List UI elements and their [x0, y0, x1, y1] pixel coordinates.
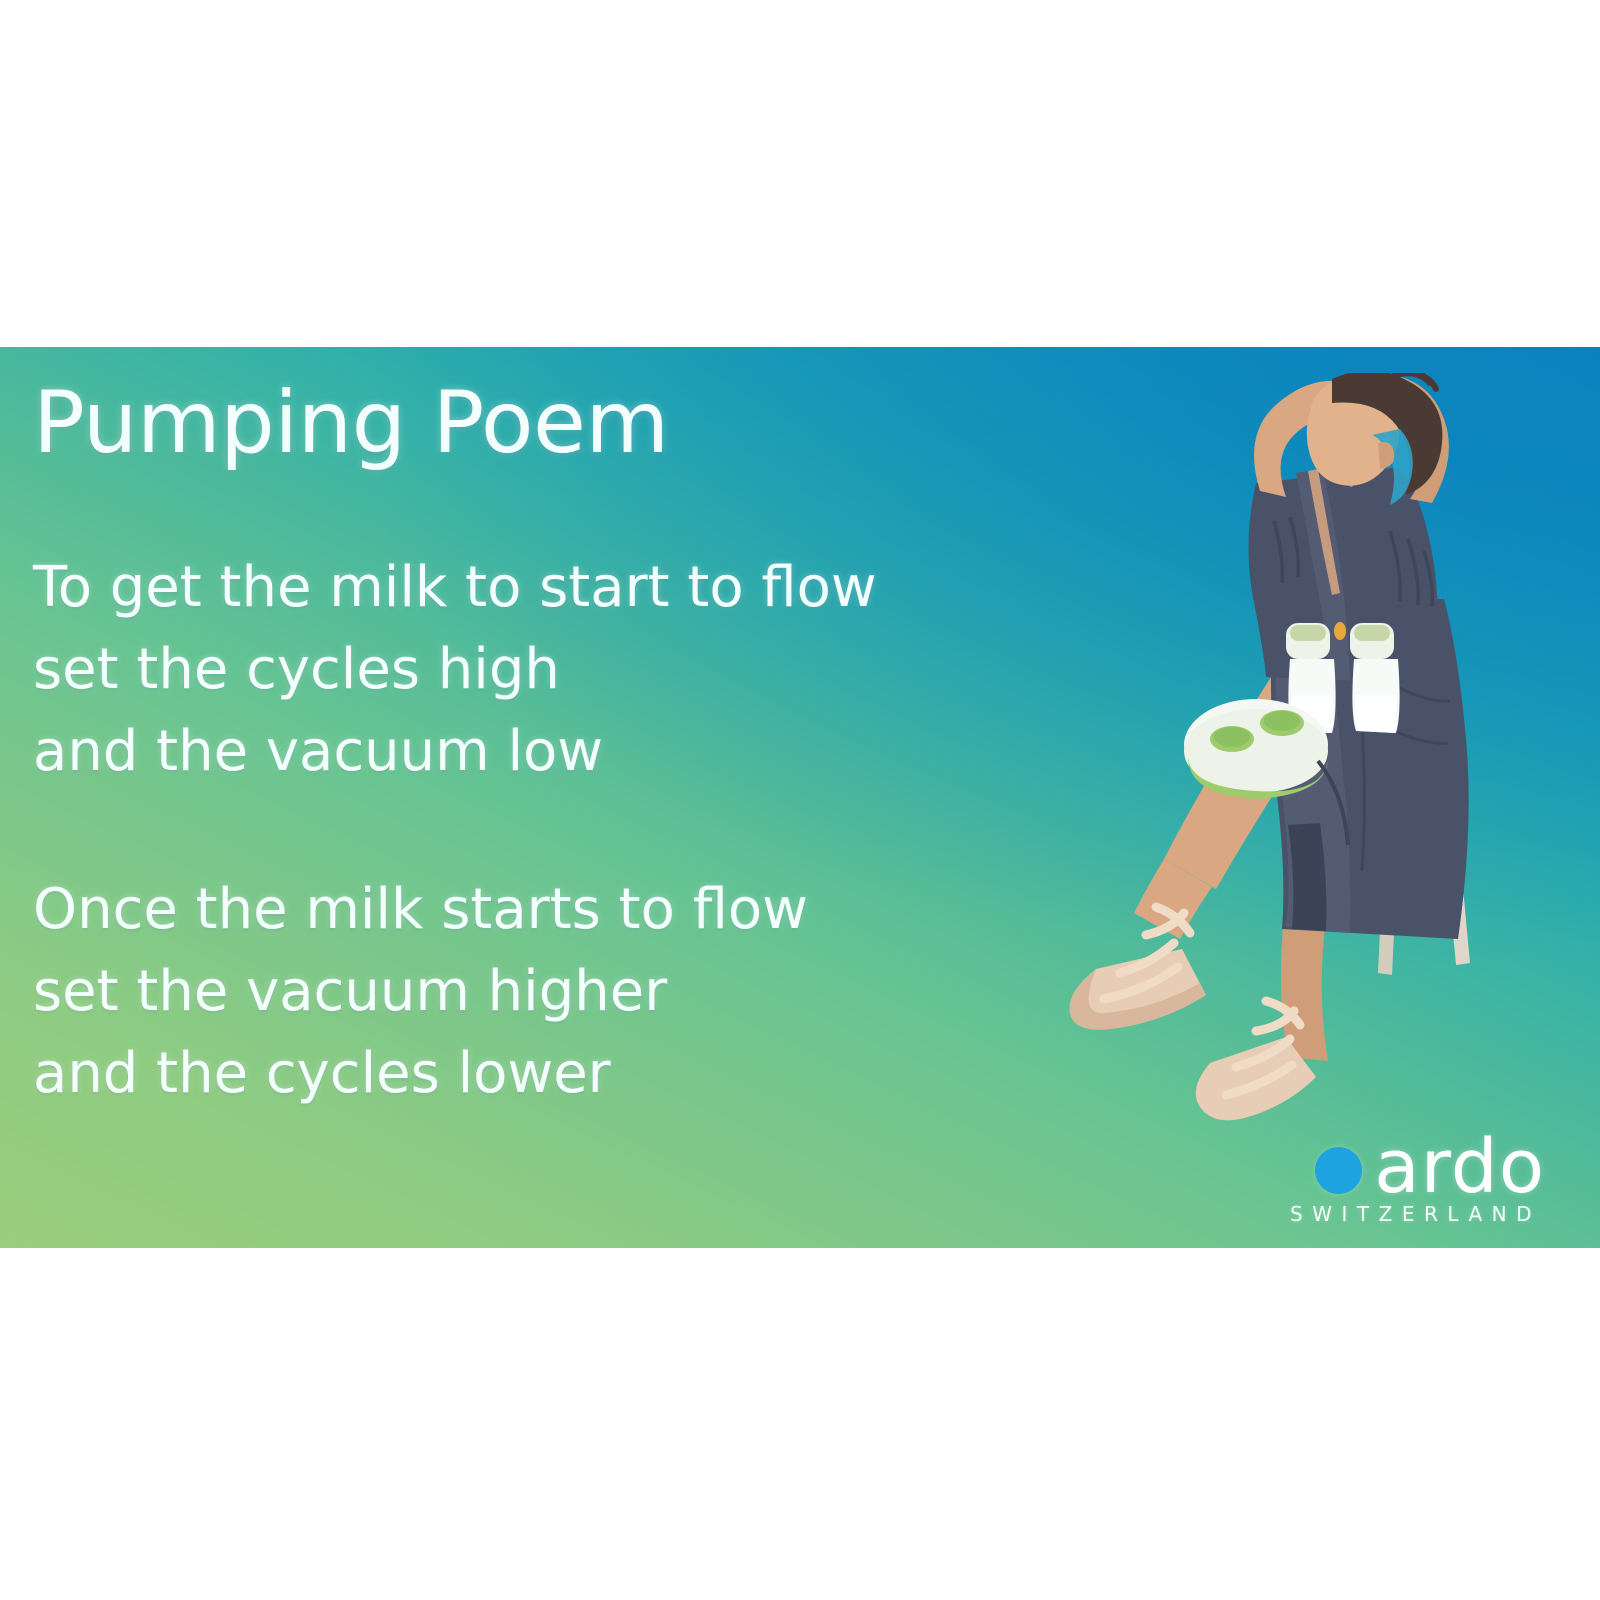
poem-stanza-1: To get the milk to start to flow set the… [33, 547, 877, 793]
poem-line: set the vacuum higher [33, 951, 808, 1033]
gradient-banner: Pumping Poem To get the milk to start to… [0, 347, 1600, 1248]
graphic-canvas: Pumping Poem To get the milk to start to… [0, 0, 1600, 1600]
poem-line: and the cycles lower [33, 1033, 808, 1115]
poem-copy-block: Pumping Poem To get the milk to start to… [33, 347, 1153, 1248]
blue-circle-icon [1315, 1147, 1362, 1194]
logo-wordmark: ardo [1374, 1136, 1545, 1198]
poem-line: Once the milk starts to flow [33, 869, 808, 951]
page-title: Pumping Poem [33, 380, 669, 466]
logo-row: ardo [1315, 1136, 1545, 1198]
torso-shape [1248, 467, 1438, 685]
poem-line: To get the milk to start to flow [33, 547, 877, 629]
ardo-logo[interactable]: ardo SWITZERLAND [1290, 1136, 1545, 1226]
poem-line: and the vacuum low [33, 711, 877, 793]
poem-line: set the cycles high [33, 629, 877, 711]
poem-stanza-2: Once the milk starts to flow set the vac… [33, 869, 808, 1115]
logo-tagline: SWITZERLAND [1290, 1202, 1541, 1226]
